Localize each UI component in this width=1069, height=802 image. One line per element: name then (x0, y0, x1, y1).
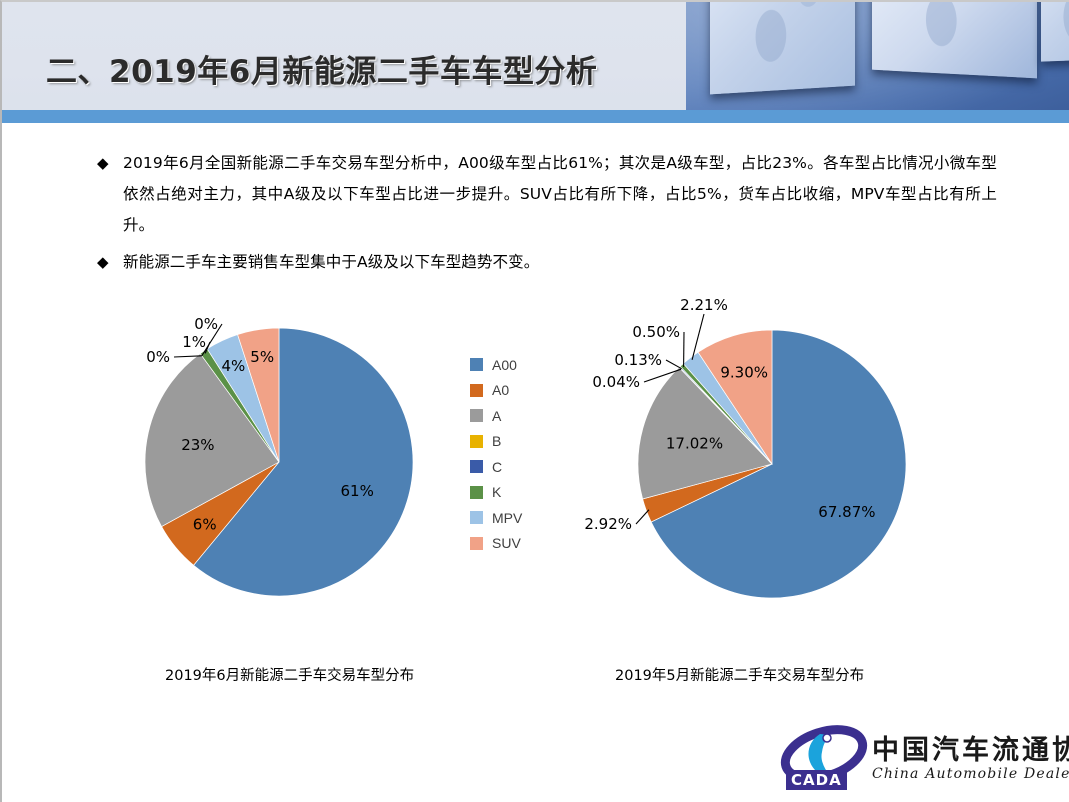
diamond-bullet-icon: ◆ (97, 247, 123, 278)
pie-label-a00: 61% (341, 482, 374, 500)
legend-label: MPV (492, 510, 522, 526)
chart-legend: A00A0ABCKMPVSUV (470, 352, 522, 556)
legend-item-mpv[interactable]: MPV (470, 505, 522, 531)
cada-abbr: CADA (786, 770, 847, 790)
pie-leader-line (666, 360, 682, 369)
bullet-text: 2019年6月全国新能源二手车交易车型分析中，A00级车型占比61%；其次是A级… (123, 148, 997, 241)
legend-label: A (492, 408, 501, 424)
pie-label-c: 0.13% (614, 351, 662, 369)
pie-label-a: 23% (181, 436, 214, 454)
pie-label-a: 17.02% (666, 435, 723, 453)
slide: 二、2019年6月新能源二手车车型分析 ◆ 2019年6月全国新能源二手车交易车… (0, 0, 1069, 802)
legend-label: C (492, 459, 502, 475)
cube-graphic (1041, 2, 1069, 62)
legend-swatch-icon (470, 511, 483, 524)
chart-caption-may: 2019年5月新能源二手车交易车型分布 (615, 664, 864, 685)
cube-graphic (710, 2, 855, 94)
pie-label-k: 1% (182, 333, 206, 351)
legend-swatch-icon (470, 435, 483, 448)
bullet-item: ◆ 新能源二手车主要销售车型集中于A级及以下车型趋势不变。 (97, 247, 997, 278)
legend-swatch-icon (470, 486, 483, 499)
pie-chart-may: 67.87%17.02%9.30%2.92%0.04%0.13%0.50%2.2… (594, 302, 924, 632)
legend-item-a00[interactable]: A00 (470, 352, 522, 378)
bullet-item: ◆ 2019年6月全国新能源二手车交易车型分析中，A00级车型占比61%；其次是… (97, 148, 997, 241)
legend-swatch-icon (470, 537, 483, 550)
header-decoration-image (686, 2, 1069, 110)
legend-item-k[interactable]: K (470, 480, 522, 506)
header-accent-strip (2, 110, 1069, 123)
legend-label: K (492, 484, 501, 500)
logo-english-name: China Automobile Dealers Association (872, 766, 1069, 782)
bullet-list: ◆ 2019年6月全国新能源二手车交易车型分析中，A00级车型占比61%；其次是… (97, 148, 997, 284)
legend-item-b[interactable]: B (470, 429, 522, 455)
pie-label-mpv: 2.21% (680, 296, 728, 314)
pie-chart-june: 61%6%23%4%5%0%0%1% (114, 302, 444, 632)
pie-chart-may-svg: 67.87%17.02%9.30%2.92%0.04%0.13%0.50%2.2… (594, 302, 924, 632)
legend-swatch-icon (470, 384, 483, 397)
cube-graphic (872, 2, 1037, 78)
cada-logo: CADA 中国汽车流通协会 China Automobile Dealers A… (780, 724, 1058, 796)
pie-chart-june-svg: 61%6%23%4%5%0%0%1% (114, 302, 444, 632)
bullet-text: 新能源二手车主要销售车型集中于A级及以下车型趋势不变。 (123, 247, 539, 278)
pie-label-k: 0.50% (632, 323, 680, 341)
pie-label-suv: 9.30% (720, 364, 768, 382)
legend-label: SUV (492, 535, 521, 551)
legend-item-suv[interactable]: SUV (470, 531, 522, 557)
pie-label-a00: 67.87% (818, 503, 875, 521)
legend-swatch-icon (470, 409, 483, 422)
slide-header: 二、2019年6月新能源二手车车型分析 (2, 2, 1069, 123)
pie-label-mpv: 4% (222, 357, 246, 375)
pie-label-suv: 5% (250, 348, 274, 366)
pie-label-a0: 2.92% (584, 515, 632, 533)
page-title: 二、2019年6月新能源二手车车型分析 (46, 46, 597, 91)
pie-label-a0: 6% (193, 516, 217, 534)
pie-label-b: 0% (194, 315, 218, 333)
pie-leader-line (636, 510, 649, 524)
legend-item-a[interactable]: A (470, 403, 522, 429)
legend-label: A0 (492, 382, 509, 398)
pie-label-b: 0.04% (592, 373, 640, 391)
chart-caption-june: 2019年6月新能源二手车交易车型分布 (165, 664, 414, 685)
pie-label-c: 0% (146, 348, 170, 366)
logo-chinese-name: 中国汽车流通协会 (872, 728, 1069, 767)
legend-label: A00 (492, 357, 517, 373)
diamond-bullet-icon: ◆ (97, 148, 123, 179)
legend-swatch-icon (470, 460, 483, 473)
legend-item-c[interactable]: C (470, 454, 522, 480)
charts-container: 61%6%23%4%5%0%0%1% 67.87%17.02%9.30%2.92… (2, 294, 1069, 694)
legend-label: B (492, 433, 501, 449)
legend-item-a0[interactable]: A0 (470, 378, 522, 404)
legend-swatch-icon (470, 358, 483, 371)
